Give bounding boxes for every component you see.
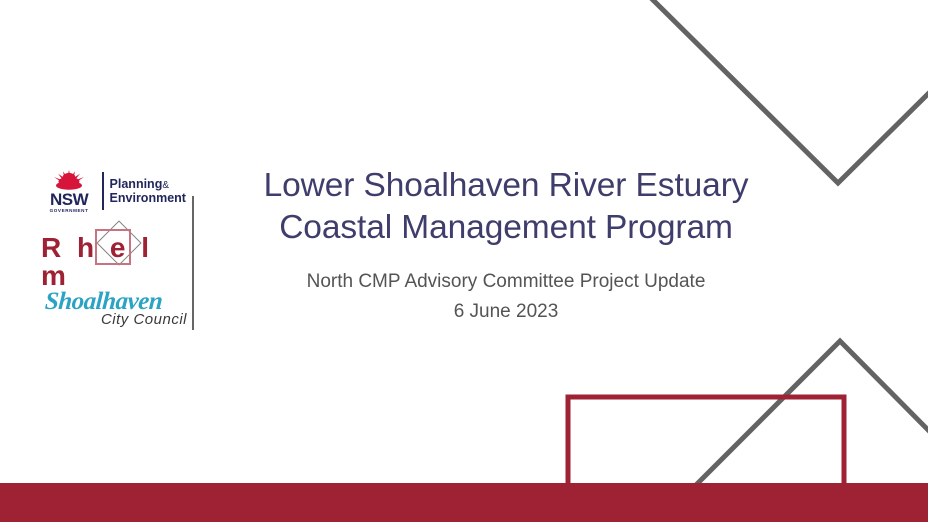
slide-subtitle: North CMP Advisory Committee Project Upd… [212, 267, 800, 296]
red-rectangle-outline-icon [568, 397, 844, 489]
slide-title-line-2: Coastal Management Program [279, 209, 733, 246]
nsw-lockup-rule [102, 172, 104, 210]
gray-peak-chevron-icon [693, 341, 928, 488]
bottom-red-band [0, 483, 928, 522]
nsw-government-mark: NSW GOVERNMENT [42, 168, 96, 214]
shoalhaven-wordmark: Shoalhaven [44, 289, 190, 314]
nsw-department-line1: Planning [110, 177, 163, 191]
nsw-wordmark: NSW [50, 191, 88, 208]
nsw-planning-environment-logo: NSW GOVERNMENT Planning& Environment [42, 165, 186, 217]
logo-divider [192, 196, 194, 330]
nsw-waratah-icon [49, 168, 89, 190]
title-slide: NSW GOVERNMENT Planning& Environment R h… [0, 0, 928, 522]
slide-title-line-1: Lower Shoalhaven River Estuary [264, 167, 749, 204]
rhelm-wordmark: R h e l m [41, 234, 187, 290]
slide-title: Lower Shoalhaven River Estuary Coastal M… [212, 165, 800, 249]
nsw-government-text: GOVERNMENT [50, 209, 89, 214]
slide-date: 6 June 2023 [212, 297, 800, 326]
rhelm-logo: R h e l m [41, 227, 187, 275]
nsw-department-name: Planning& Environment [110, 177, 186, 205]
shoalhaven-city-council-logo: Shoalhaven City Council [39, 289, 189, 327]
gray-v-chevron-icon [651, 0, 928, 183]
nsw-department-line2: Environment [110, 191, 186, 205]
nsw-department-amp: & [162, 180, 169, 191]
title-text-block: Lower Shoalhaven River Estuary Coastal M… [212, 165, 800, 326]
logo-column: NSW GOVERNMENT Planning& Environment R h… [38, 163, 190, 335]
